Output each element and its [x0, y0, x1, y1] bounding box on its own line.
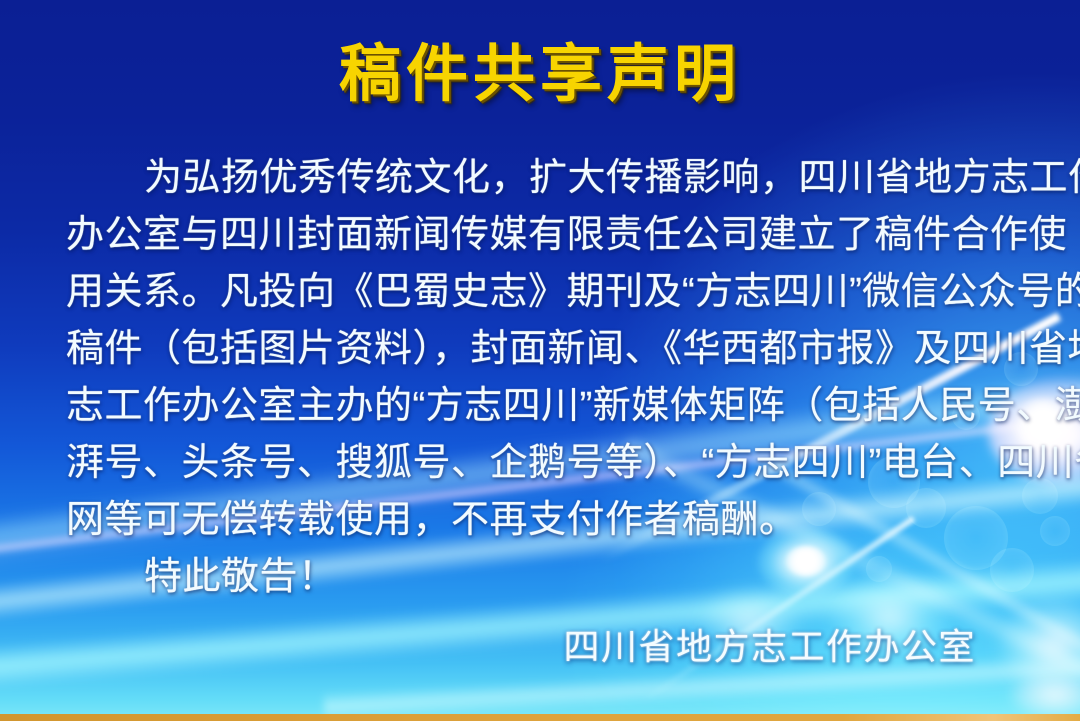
announcement-body: 为弘扬优秀传统文化，扩大传播影响，四川省地方志工作 办公室与四川封面新闻传媒有限…: [66, 150, 1016, 606]
page-title: 稿件共享声明: [0, 44, 1080, 106]
body-line: 稿件（包括图片资料），封面新闻、《华西都市报》及四川省地方: [66, 321, 1016, 378]
body-line: 特此敬告！: [66, 549, 1016, 606]
body-line: 网等可无偿转载使用，不再支付作者稿酬。: [66, 492, 1016, 549]
announcement-poster: 稿件共享声明 为弘扬优秀传统文化，扩大传播影响，四川省地方志工作 办公室与四川封…: [0, 0, 1080, 721]
bottom-accent-bar: [0, 714, 1080, 721]
body-line: 为弘扬优秀传统文化，扩大传播影响，四川省地方志工作: [66, 150, 1016, 207]
body-line: 用关系。凡投向《巴蜀史志》期刊及“方志四川”微信公众号的: [66, 264, 1016, 321]
body-line: 湃号、头条号、搜狐号、企鹅号等）、“方志四川”电台、四川省情: [66, 435, 1016, 492]
signature-organization: 四川省地方志工作办公室: [563, 618, 976, 670]
body-line: 办公室与四川封面新闻传媒有限责任公司建立了稿件合作使: [66, 207, 1016, 264]
body-line: 志工作办公室主办的“方志四川”新媒体矩阵（包括人民号、澎: [66, 378, 1016, 435]
